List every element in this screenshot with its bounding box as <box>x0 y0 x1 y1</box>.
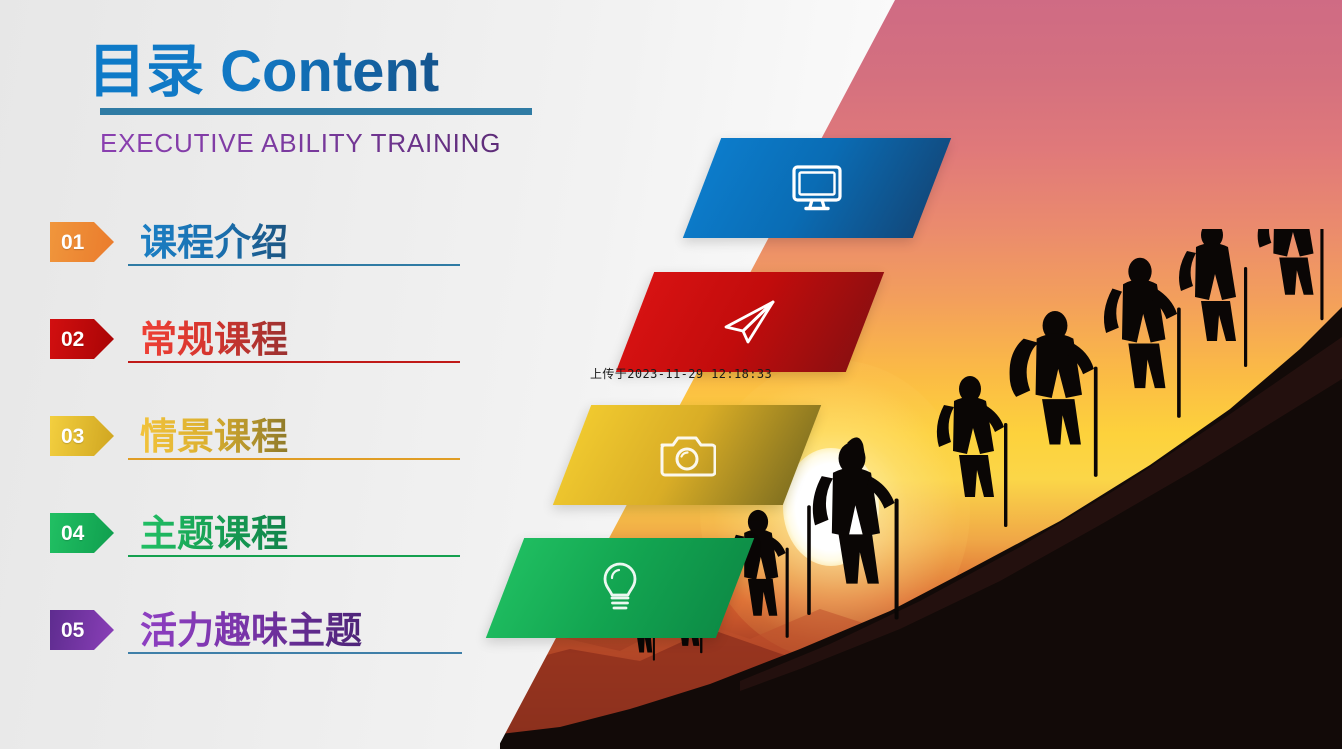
camera-icon <box>658 431 716 479</box>
icon-card-idea[interactable] <box>486 538 754 638</box>
lightbulb-icon <box>597 560 643 616</box>
paper-plane-icon <box>720 296 780 348</box>
icon-card-camera[interactable] <box>553 405 821 505</box>
upload-watermark: 上传于2023-11-29 12:18:33 <box>590 365 772 382</box>
presentation-slide: 目录 Content EXECUTIVE ABILITY TRAINING 01… <box>0 0 1342 749</box>
monitor-icon <box>788 162 846 214</box>
icon-card-monitor[interactable] <box>683 138 951 238</box>
icon-card-send[interactable] <box>616 272 884 372</box>
